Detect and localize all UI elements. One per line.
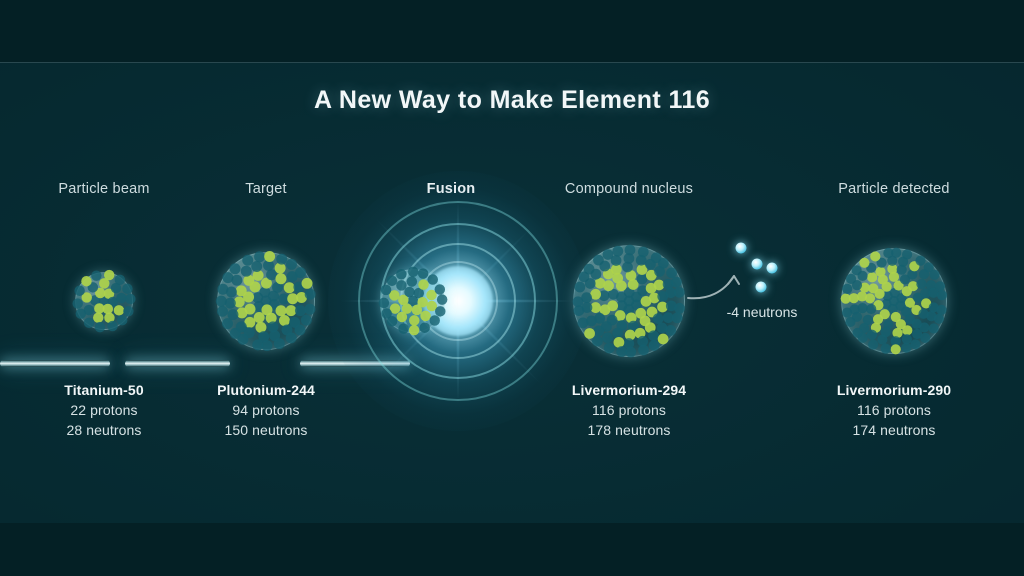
caption-name: Titanium-50 bbox=[64, 382, 143, 398]
caption-name: Livermorium-290 bbox=[837, 382, 951, 398]
caption-neutrons: 28 neutrons bbox=[64, 422, 143, 438]
infographic-frame: A New Way to Make Element 116 Particle b… bbox=[0, 0, 1024, 576]
caption-neutrons: 174 neutrons bbox=[837, 422, 951, 438]
caption-neutrons: 178 neutrons bbox=[572, 422, 686, 438]
letterbox-top bbox=[0, 0, 1024, 62]
page-title: A New Way to Make Element 116 bbox=[0, 86, 1024, 115]
nucleus-fusion-incoming bbox=[381, 269, 445, 333]
caption-name: Livermorium-294 bbox=[572, 382, 686, 398]
nucleon-dots bbox=[381, 269, 445, 333]
stage-header-target: Target bbox=[245, 181, 287, 197]
fusion-burst bbox=[308, 151, 608, 451]
beam-segment-2 bbox=[125, 360, 230, 367]
stage-header-particle-beam: Particle beam bbox=[58, 181, 149, 197]
caption-protons: 22 protons bbox=[64, 402, 143, 418]
caption-protons: 116 protons bbox=[837, 402, 951, 418]
caption-name: Plutonium-244 bbox=[217, 382, 315, 398]
caption-neutrons: 150 neutrons bbox=[217, 422, 315, 438]
caption-protons: 94 protons bbox=[217, 402, 315, 418]
caption-livermorium-294: Livermorium-294 116 protons 178 neutrons bbox=[572, 382, 686, 438]
letterbox-bottom bbox=[0, 523, 1024, 576]
nucleus-livermorium-290 bbox=[841, 248, 947, 354]
ejected-neutron-3 bbox=[767, 263, 778, 274]
nucleon-dots bbox=[841, 248, 947, 354]
caption-titanium-50: Titanium-50 22 protons 28 neutrons bbox=[64, 382, 143, 438]
caption-livermorium-290: Livermorium-290 116 protons 174 neutrons bbox=[837, 382, 951, 438]
beam-segment-1 bbox=[0, 360, 110, 367]
caption-protons: 116 protons bbox=[572, 402, 686, 418]
nucleus-titanium-50 bbox=[75, 272, 133, 330]
caption-plutonium-244: Plutonium-244 94 protons 150 neutrons bbox=[217, 382, 315, 438]
ejected-neutrons-label: -4 neutrons bbox=[727, 304, 798, 320]
ejected-neutron-1 bbox=[736, 243, 747, 254]
nucleon-dots bbox=[75, 272, 133, 330]
stage-header-particle-detected: Particle detected bbox=[838, 181, 949, 197]
